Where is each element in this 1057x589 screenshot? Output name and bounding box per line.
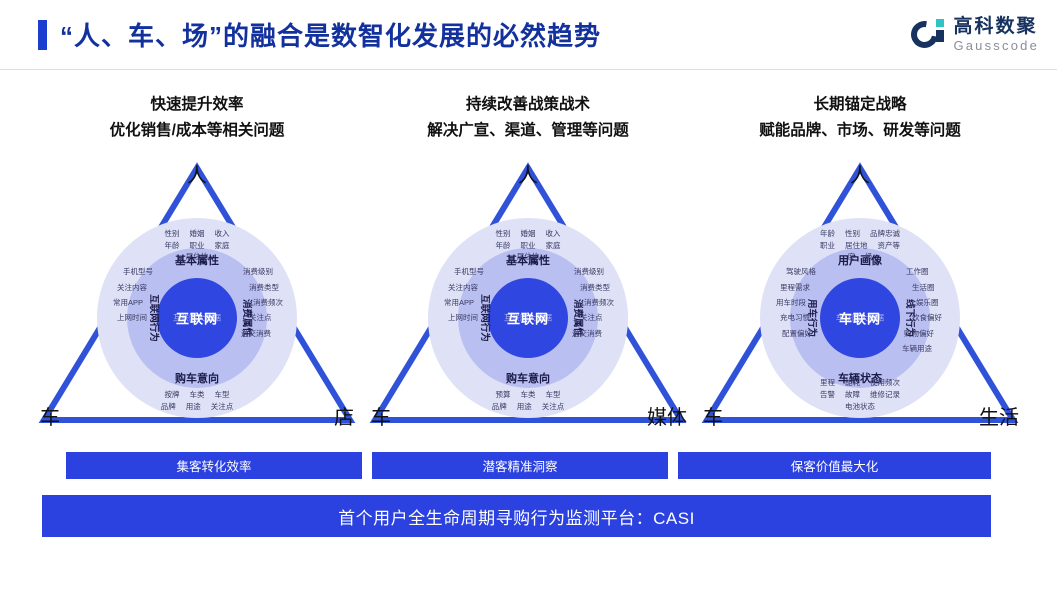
outer-label: 驾驶风格 xyxy=(738,264,816,279)
outer-label: 预算 xyxy=(496,389,511,401)
ring-core-label: 互联网 xyxy=(507,309,549,328)
outer-label: 生活圈 xyxy=(912,280,986,295)
outer-left-labels: 手机型号关注内容常用APP上网时间 xyxy=(75,264,149,326)
outer-label-row: 性别婚姻收入 xyxy=(438,228,618,240)
outer-right-labels: 消费级别消费类型消费频次关注点送交消费 xyxy=(241,264,323,341)
outer-label: 职业 xyxy=(521,240,536,252)
outer-label: 居住地 xyxy=(517,251,540,263)
outer-label: 常用APP xyxy=(75,295,143,310)
vertex-bottom-left-label: 车 xyxy=(40,408,60,428)
outer-label: 上网时间 xyxy=(406,310,478,325)
outer-label: 消费类型 xyxy=(580,280,654,295)
outer-label: 车型 xyxy=(546,389,561,401)
column-heading-line2: 解决广宣、渠道、管理等问题 xyxy=(363,118,693,144)
outer-label: 送交消费 xyxy=(572,326,654,341)
outer-bottom-labels: 按牌车类车型品牌用途关注点 xyxy=(102,389,292,412)
outer-label: 用车时段 xyxy=(738,295,806,310)
outer-label: 按牌 xyxy=(165,389,180,401)
outer-label-row: 居住地 xyxy=(107,251,287,263)
outer-label: 消费级别 xyxy=(243,264,323,279)
outer-label: 关注点 xyxy=(580,310,654,325)
triangle-diagram: 人 车 生活 车联网大数据 车联网 用户画像 车辆状态 用车行为 线下行为 年龄… xyxy=(695,152,1025,434)
outer-label: 职业 xyxy=(190,240,205,252)
column-heading-line1: 长期锚定战略 xyxy=(695,92,1025,118)
outer-label: 维修记录 xyxy=(870,389,900,401)
vertex-bottom-right-label: 媒体 xyxy=(647,408,687,428)
outer-label-row: 性别婚姻收入 xyxy=(107,228,287,240)
outer-left-labels: 手机型号关注内容常用APP上网时间 xyxy=(406,264,480,326)
outer-top-labels: 性别婚姻收入年龄职业家庭居住地 xyxy=(107,228,287,263)
title-accent-bar xyxy=(38,20,47,50)
outer-top-labels: 年龄性别品牌忠诚职业居住地资产等度级 xyxy=(770,228,950,263)
outer-label-row: 电池状态 xyxy=(765,401,955,413)
outer-label: 手机型号 xyxy=(75,264,153,279)
outer-label: 关注内容 xyxy=(75,280,147,295)
column-banner: 集客转化效率 xyxy=(66,452,362,479)
outer-label: 品牌 xyxy=(492,401,507,413)
outer-label: 常用APP xyxy=(406,295,474,310)
ring-mid-bottom-label: 购车意向 xyxy=(175,370,219,386)
outer-label: 消费频次 xyxy=(584,295,654,310)
outer-label: 居住地 xyxy=(186,251,209,263)
outer-label-row: 年龄职业家庭 xyxy=(107,240,287,252)
outer-label: 性别 xyxy=(165,228,180,240)
outer-label: 送交消费 xyxy=(241,326,323,341)
vertex-top-label: 人 xyxy=(187,166,207,186)
outer-top-labels: 性别婚姻收入年龄职业家庭居住地 xyxy=(438,228,618,263)
ring-mid-bottom-label: 购车意向 xyxy=(506,370,550,386)
outer-label: 故障 xyxy=(845,389,860,401)
outer-label: 手机型号 xyxy=(406,264,484,279)
outer-label: 年龄 xyxy=(820,228,835,240)
outer-label: 使用频次 xyxy=(870,377,900,389)
column-heading-line2: 赋能品牌、市场、研发等问题 xyxy=(695,118,1025,144)
outer-label: 车类 xyxy=(521,389,536,401)
outer-label-row: 里程能耗使用频次 xyxy=(765,377,955,389)
outer-label: 消费频次 xyxy=(253,295,323,310)
outer-left-labels: 驾驶风格里程需求用车时段充电习惯配置偏好 xyxy=(738,264,812,341)
outer-label: 关注内容 xyxy=(406,280,478,295)
outer-label: 购物偏好 xyxy=(904,326,986,341)
outer-label: 年龄 xyxy=(496,240,511,252)
outer-label: 品牌忠诚 xyxy=(870,228,900,240)
outer-label: 里程需求 xyxy=(738,280,810,295)
concentric-rings: 车联网大数据 车联网 用户画像 车辆状态 用车行为 线下行为 年龄性别品牌忠诚职… xyxy=(760,218,960,418)
column-heading-line1: 持续改善战策战术 xyxy=(363,92,693,118)
vertex-bottom-right-label: 生活 xyxy=(979,408,1019,428)
outer-label: 饮食偏好 xyxy=(912,310,986,325)
outer-label: 关注点 xyxy=(249,310,323,325)
logo-english-name: Gausscode xyxy=(953,39,1039,52)
logo-glyph-icon xyxy=(911,18,945,52)
column-heading: 长期锚定战略 赋能品牌、市场、研发等问题 xyxy=(695,92,1025,143)
outer-label: 工作圈 xyxy=(906,264,986,279)
column-heading-line1: 快速提升效率 xyxy=(32,92,362,118)
outer-label: 告警 xyxy=(820,389,835,401)
outer-label-row: 职业居住地资产等 xyxy=(770,240,950,252)
brand-logo: 高科数聚 Gausscode xyxy=(911,17,1039,52)
outer-bottom-labels: 里程能耗使用频次告警故障维修记录电池状态 xyxy=(765,377,955,412)
outer-label: 里程 xyxy=(820,377,835,389)
outer-label-row: 预算车类车型 xyxy=(433,389,623,401)
vertex-bottom-left-label: 车 xyxy=(371,408,391,428)
outer-label: 收入 xyxy=(546,228,561,240)
ring-mid-left-label: 互联网行为 xyxy=(479,294,493,342)
footer-banner: 首个用户全生命周期寻购行为监测平台：CASI xyxy=(42,495,991,537)
outer-label: 用途 xyxy=(186,401,201,413)
outer-label: 职业 xyxy=(820,240,835,252)
page-title: “人、车、场”的融合是数智化发展的必然趋势 xyxy=(60,16,601,53)
concentric-rings: 互联网大数据 互联网 基本属性 购车意向 互联网行为 消费属性 性别婚姻收入年龄… xyxy=(97,218,297,418)
vertex-bottom-right-label: 店 xyxy=(334,408,354,428)
outer-label: 车辆用途 xyxy=(902,341,986,356)
column-block: 长期锚定战略 赋能品牌、市场、研发等问题 人 车 生活 车联网大数据 车联网 用… xyxy=(695,92,1025,434)
outer-label: 关注点 xyxy=(211,401,234,413)
outer-label: 车类 xyxy=(190,389,205,401)
outer-label: 用途 xyxy=(517,401,532,413)
vertex-top-label: 人 xyxy=(518,166,538,186)
outer-label: 配置偏好 xyxy=(738,326,812,341)
outer-label: 品牌 xyxy=(161,401,176,413)
column-banner: 潜客精准洞察 xyxy=(372,452,668,479)
column-heading: 持续改善战策战术 解决广宣、渠道、管理等问题 xyxy=(363,92,693,143)
outer-label: 年龄 xyxy=(165,240,180,252)
outer-label-row: 居住地 xyxy=(438,251,618,263)
outer-label: 度 xyxy=(848,251,856,263)
outer-right-labels: 消费级别消费类型消费频次关注点送交消费 xyxy=(572,264,654,341)
outer-label: 关注点 xyxy=(542,401,565,413)
triangle-diagram: 人 车 店 互联网大数据 互联网 基本属性 购车意向 互联网行为 消费属性 性别… xyxy=(32,152,362,434)
outer-label-row: 告警故障维修记录 xyxy=(765,389,955,401)
outer-label: 性别 xyxy=(845,228,860,240)
outer-label-row: 度级 xyxy=(770,251,950,263)
outer-label: 上网时间 xyxy=(75,310,147,325)
outer-label: 婚姻 xyxy=(521,228,536,240)
outer-label: 收入 xyxy=(215,228,230,240)
logo-chinese-name: 高科数聚 xyxy=(953,17,1039,36)
vertex-top-label: 人 xyxy=(850,166,870,186)
outer-label: 电池状态 xyxy=(845,401,875,413)
outer-label-row: 年龄性别品牌忠诚 xyxy=(770,228,950,240)
outer-label: 婚姻 xyxy=(190,228,205,240)
outer-label-row: 品牌用途关注点 xyxy=(433,401,623,413)
outer-label-row: 品牌用途关注点 xyxy=(102,401,292,413)
concentric-rings: 互联网大数据 互联网 基本属性 购车意向 互联网行为 消费属性 性别婚姻收入年龄… xyxy=(428,218,628,418)
column-heading: 快速提升效率 优化销售/成本等相关问题 xyxy=(32,92,362,143)
outer-label: 车型 xyxy=(215,389,230,401)
outer-right-labels: 工作圈生活圈娱乐圈饮食偏好购物偏好车辆用途 xyxy=(904,264,986,356)
header-divider xyxy=(0,69,1057,70)
ring-core-label: 互联网 xyxy=(176,309,218,328)
outer-bottom-labels: 预算车类车型品牌用途关注点 xyxy=(433,389,623,412)
vertex-bottom-left-label: 车 xyxy=(703,408,723,428)
triangle-diagram: 人 车 媒体 互联网大数据 互联网 基本属性 购车意向 互联网行为 消费属性 性… xyxy=(363,152,693,434)
outer-label: 充电习惯 xyxy=(738,310,810,325)
column-block: 快速提升效率 优化销售/成本等相关问题 人 车 店 互联网大数据 互联网 基本属… xyxy=(32,92,362,434)
page-header: “人、车、场”的融合是数智化发展的必然趋势 高科数聚 Gausscode xyxy=(0,0,1057,70)
outer-label: 娱乐圈 xyxy=(916,295,986,310)
column-heading-line2: 优化销售/成本等相关问题 xyxy=(32,118,362,144)
outer-label: 能耗 xyxy=(845,377,860,389)
outer-label-row: 按牌车类车型 xyxy=(102,389,292,401)
outer-label: 居住地 xyxy=(845,240,868,252)
outer-label: 消费级别 xyxy=(574,264,654,279)
outer-label-row: 年龄职业家庭 xyxy=(438,240,618,252)
outer-label: 家庭 xyxy=(215,240,230,252)
column-banner: 保客价值最大化 xyxy=(678,452,991,479)
ring-core-label: 车联网 xyxy=(839,309,881,328)
outer-label: 资产等 xyxy=(878,240,901,252)
outer-label: 消费类型 xyxy=(249,280,323,295)
outer-label: 级 xyxy=(865,251,873,263)
ring-mid-left-label: 互联网行为 xyxy=(148,294,162,342)
column-block: 持续改善战策战术 解决广宣、渠道、管理等问题 人 车 媒体 互联网大数据 互联网… xyxy=(363,92,693,434)
outer-label: 性别 xyxy=(496,228,511,240)
outer-label: 家庭 xyxy=(546,240,561,252)
